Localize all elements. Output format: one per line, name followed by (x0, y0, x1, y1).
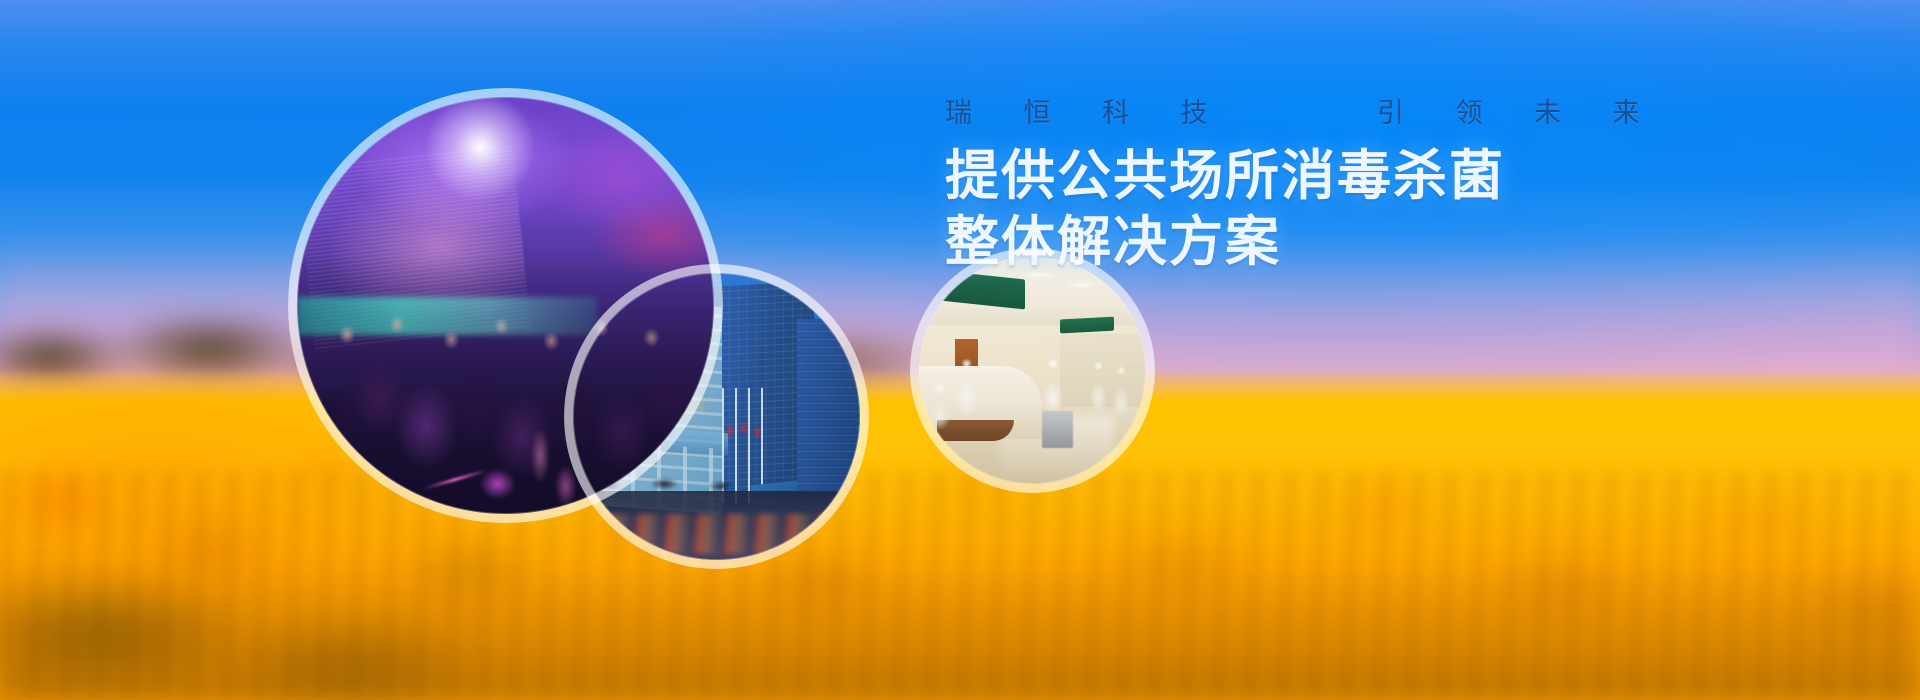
hospital-corridor-scene (919, 257, 1146, 484)
ice-bucket-bottles (455, 406, 597, 506)
photo-circle-nightclub[interactable] (288, 88, 723, 523)
hospital-staff-figures (919, 257, 1146, 484)
photo-circle-hospital[interactable] (910, 248, 1155, 493)
traffic-light-trails (573, 514, 860, 554)
headline: 提供公共场所消毒杀菌 整体解决方案 (945, 143, 1665, 275)
headline-line-2: 整体解决方案 (945, 209, 1665, 275)
headline-line-1: 提供公共场所消毒杀菌 (945, 146, 1505, 206)
nightclub-bar-scene (297, 97, 714, 514)
hero-banner: 瑞 恒 科 技 引 领 未 来 提供公共场所消毒杀菌 整体解决方案 (0, 0, 1920, 700)
medical-trolley (1042, 411, 1074, 447)
glass-tower-secondary (797, 319, 860, 508)
brand-subtitle: 瑞 恒 科 技 引 领 未 来 (945, 100, 1665, 127)
hero-text-block: 瑞 恒 科 技 引 领 未 来 提供公共场所消毒杀菌 整体解决方案 (945, 100, 1665, 275)
red-flags (722, 417, 762, 446)
field-bottom-shadow (0, 560, 1920, 700)
